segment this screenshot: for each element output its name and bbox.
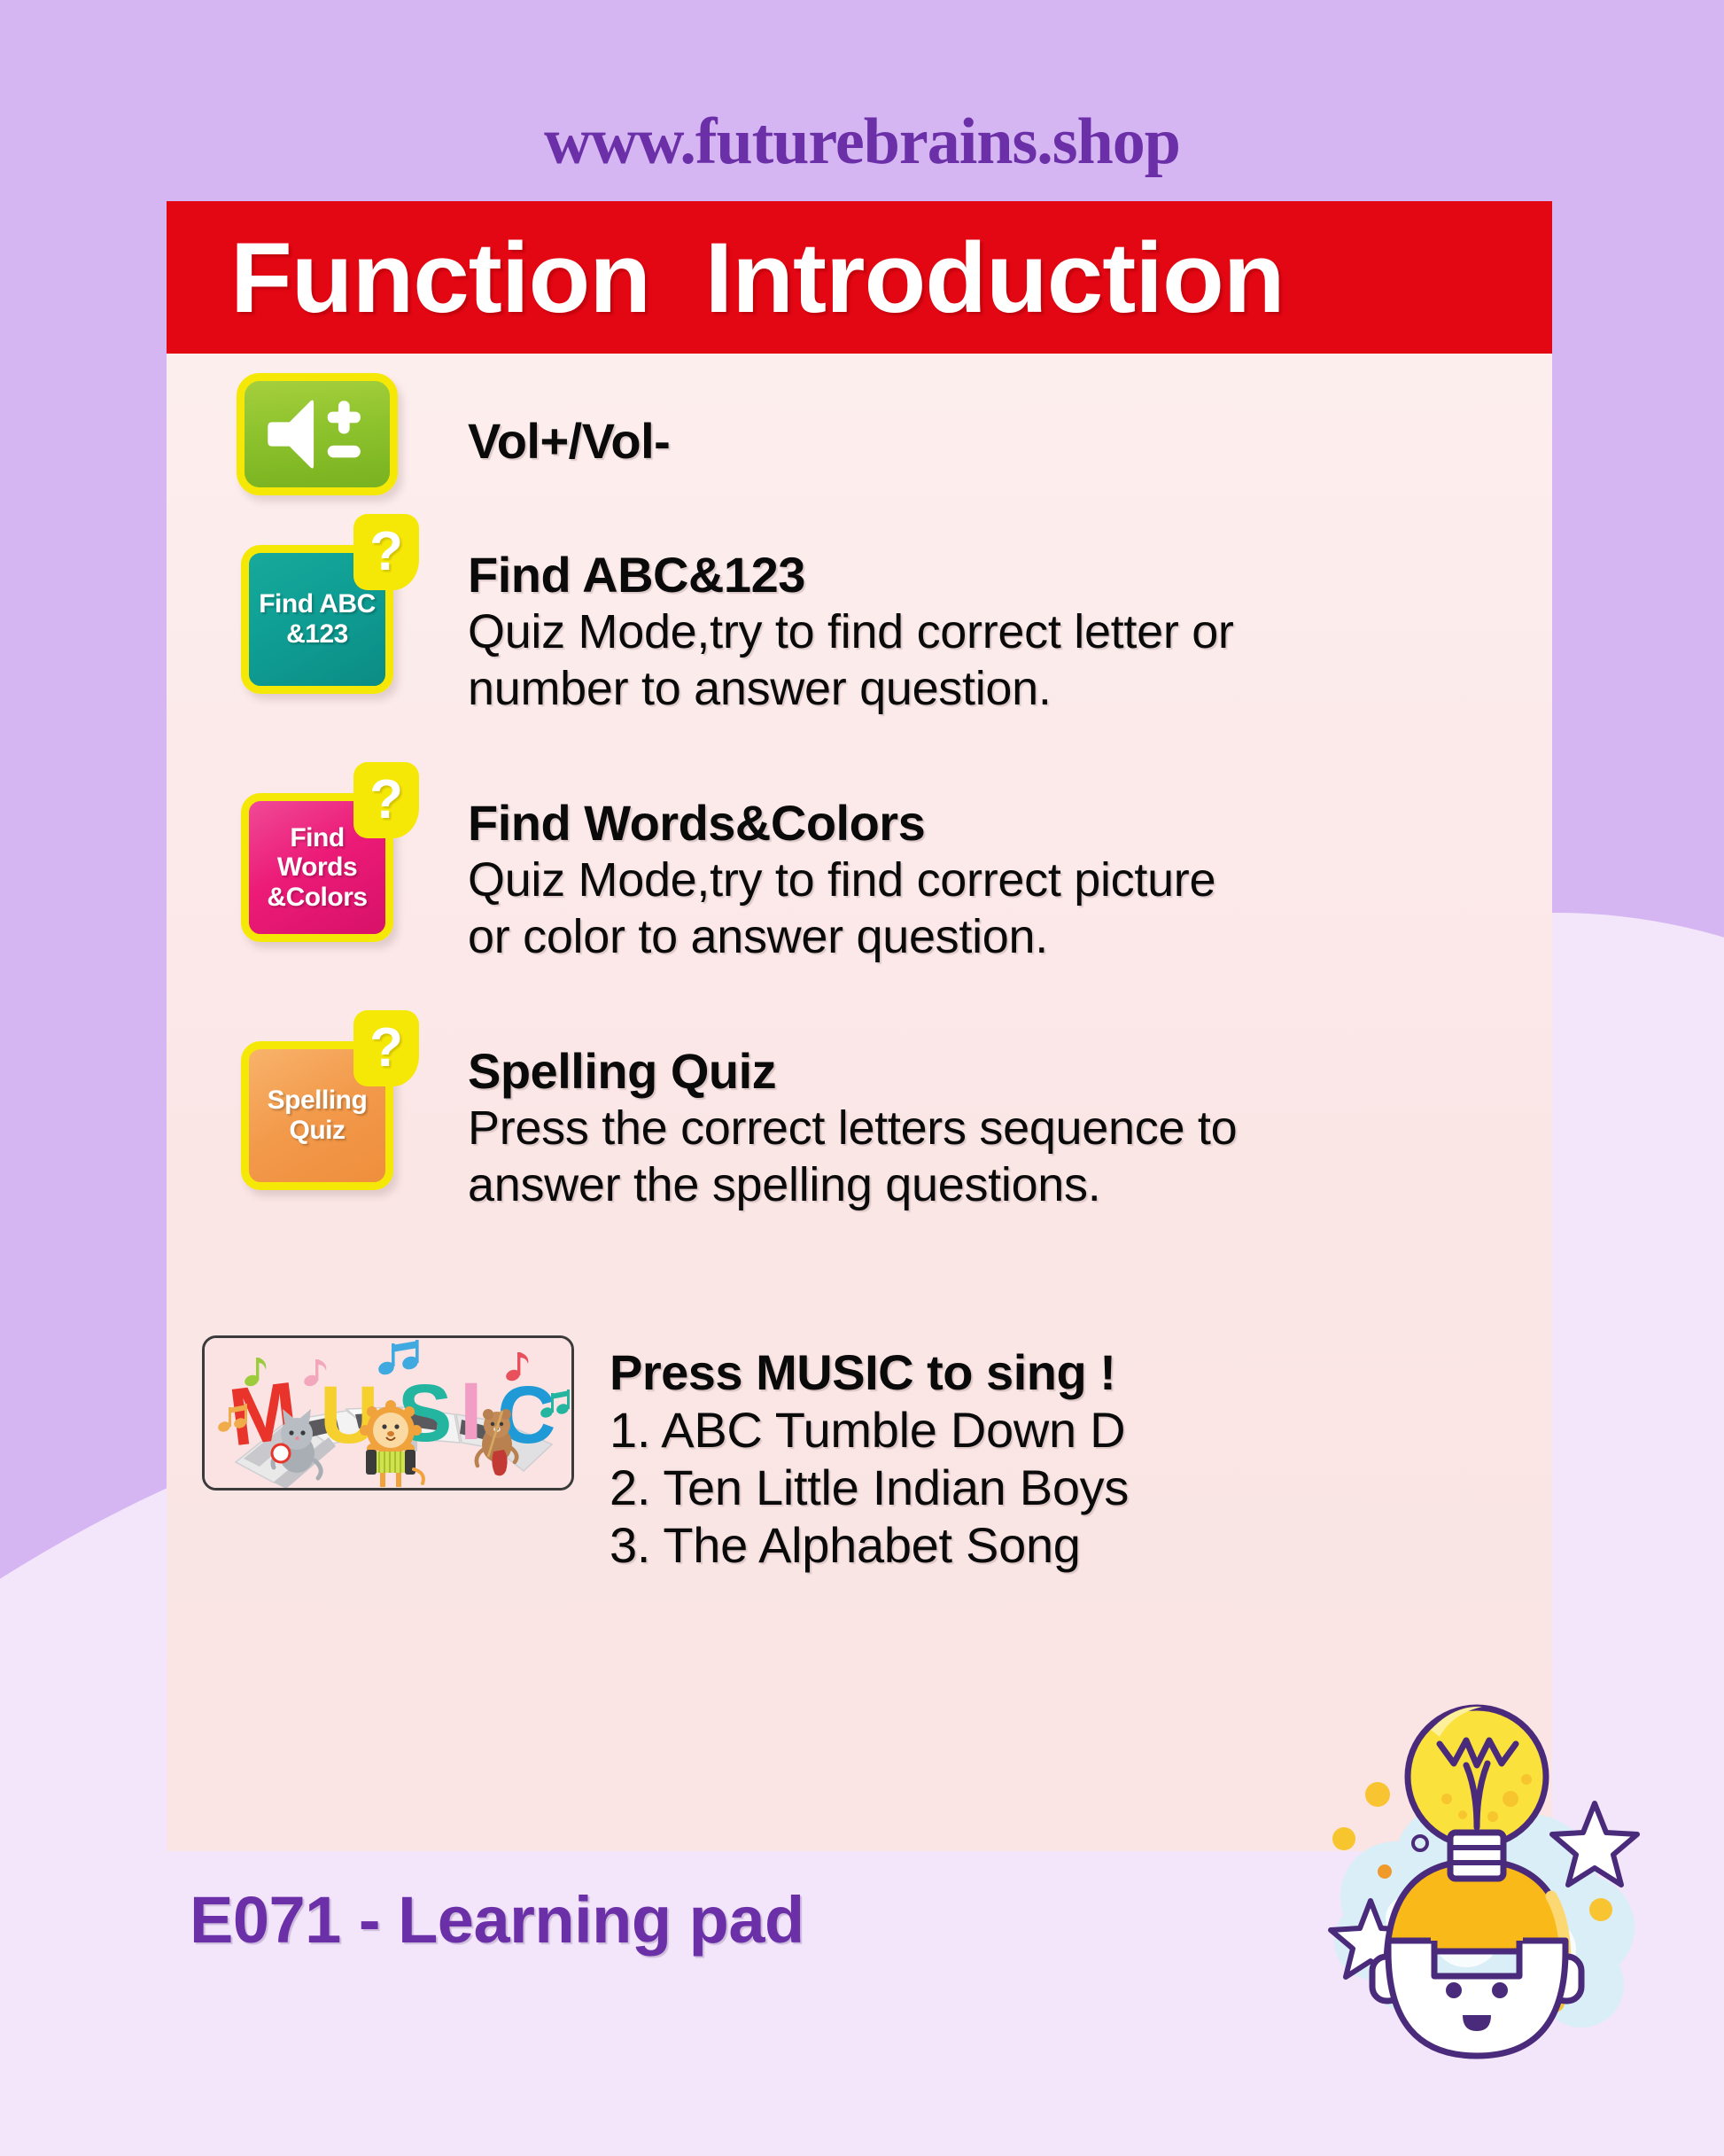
- function-introduction-card: Function Introduction Vol+/Vol-: [167, 201, 1552, 1851]
- question-mark-badge-icon: ?: [353, 514, 419, 590]
- card-header-banner: Function Introduction: [167, 201, 1552, 354]
- feature-desc-find-abc-123: Quiz Mode,try to find correct letter or …: [468, 604, 1234, 717]
- page-title: Function Introduction: [230, 221, 1285, 335]
- feature-row-find-words-colors: Find Words &Colors ? Find Words&Colors Q…: [167, 793, 1215, 965]
- model-label: E071 - Learning pad: [190, 1882, 804, 1958]
- text-column: Spelling Quiz Press the correct letters …: [468, 1041, 1237, 1213]
- question-mark-glyph: ?: [369, 1021, 403, 1076]
- find-words-colors-icon[interactable]: Find Words &Colors ?: [241, 793, 393, 942]
- speaker-plus-minus-glyph: [265, 396, 369, 472]
- lightbulb-head-logo: [1289, 1675, 1661, 2118]
- volume-speaker-icon[interactable]: [237, 373, 398, 495]
- tile-label: Spelling Quiz: [268, 1086, 368, 1145]
- question-mark-badge-icon: ?: [353, 762, 419, 838]
- icon-column: Spelling Quiz ?: [167, 1041, 468, 1190]
- feature-row-volume: Vol+/Vol-: [167, 373, 670, 495]
- question-mark-badge-icon: ?: [353, 1010, 419, 1086]
- icon-column: Find ABC &123 ?: [167, 545, 468, 694]
- card-body: Vol+/Vol- Find ABC &123 ? Find ABC&123 Q…: [167, 354, 1552, 1851]
- text-column: Find ABC&123 Quiz Mode,try to find corre…: [468, 545, 1234, 717]
- icon-column: Find Words &Colors ?: [167, 793, 468, 942]
- feature-title-find-words-colors: Find Words&Colors: [468, 795, 1215, 852]
- feature-title-spelling-quiz: Spelling Quiz: [468, 1043, 1237, 1101]
- spelling-quiz-icon[interactable]: Spelling Quiz ?: [241, 1041, 393, 1190]
- lightbulb-head-art: [1289, 1675, 1661, 2118]
- feature-row-spelling-quiz: Spelling Quiz ? Spelling Quiz Press the …: [167, 1041, 1237, 1213]
- question-mark-glyph: ?: [369, 773, 403, 828]
- song-item: 2. Ten Little Indian Boys: [597, 1459, 1129, 1517]
- music-illustration[interactable]: M U S I C: [202, 1335, 574, 1491]
- text-column: Press MUSIC to sing ! 1. ABC Tumble Down…: [585, 1335, 1129, 1575]
- music-illustration-art: M U S I C: [205, 1338, 574, 1491]
- svg-text:I: I: [460, 1366, 483, 1457]
- text-column: Find Words&Colors Quiz Mode,try to find …: [468, 793, 1215, 965]
- feature-title-find-abc-123: Find ABC&123: [468, 547, 1234, 604]
- tile-label: Find ABC &123: [259, 589, 376, 649]
- song-item: 1. ABC Tumble Down D: [597, 1402, 1129, 1459]
- feature-row-find-abc-123: Find ABC &123 ? Find ABC&123 Quiz Mode,t…: [167, 545, 1234, 717]
- feature-desc-find-words-colors: Quiz Mode,try to find correct picture or…: [468, 852, 1215, 965]
- question-mark-glyph: ?: [369, 525, 403, 580]
- song-item: 3. The Alphabet Song: [597, 1517, 1129, 1575]
- feature-desc-spelling-quiz: Press the correct letters sequence to an…: [468, 1101, 1237, 1213]
- feature-row-music: M U S I C: [167, 1335, 1129, 1575]
- icon-column: M U S I C: [167, 1335, 585, 1491]
- icon-column: [167, 373, 468, 495]
- find-abc-123-icon[interactable]: Find ABC &123 ?: [241, 545, 393, 694]
- music-title: Press MUSIC to sing !: [597, 1344, 1129, 1402]
- feature-title-volume: Vol+/Vol-: [468, 375, 670, 470]
- site-url: www.futurebrains.shop: [0, 105, 1724, 180]
- text-column: Vol+/Vol-: [468, 373, 670, 470]
